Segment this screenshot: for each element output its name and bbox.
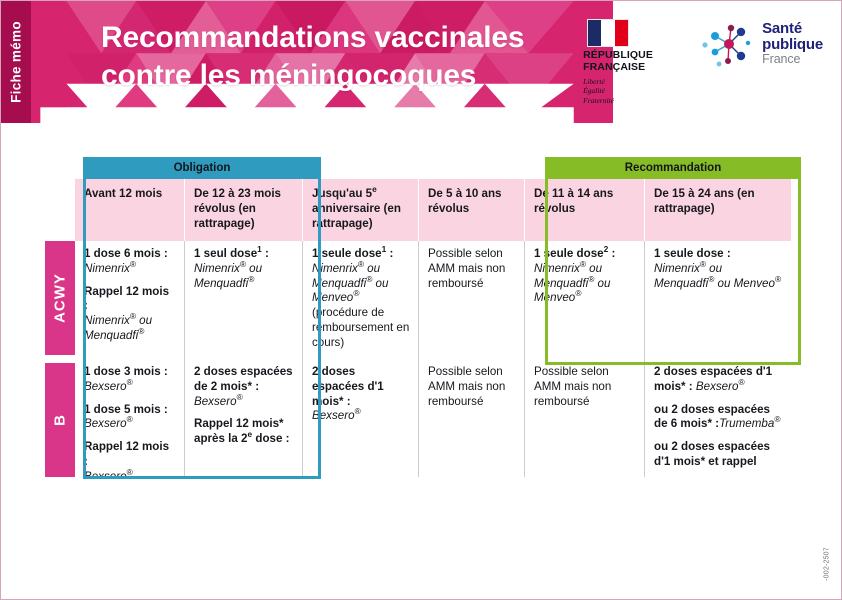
- product-name: Bexsero®: [312, 409, 361, 422]
- page-title: Recommandations vaccinales contre les mé…: [101, 19, 524, 96]
- column-header-12-23-mois: De 12 à 23 mois révolus (en rattrapage): [185, 179, 303, 241]
- dose-label: Rappel 12 mois :: [84, 285, 169, 313]
- product-name: Nimenrix®: [84, 262, 136, 275]
- cell-acwy-5e-anniversaire: 1 seule dose1 :Nimenrix® ou Menquadfi® o…: [303, 241, 419, 359]
- cell-note: (procédure de remboursement en cours): [312, 306, 409, 349]
- product-name: Trumemba®: [719, 417, 780, 430]
- spf-line3: France: [762, 53, 823, 67]
- reference-code: -002-2507: [819, 529, 835, 599]
- spf-line1: Santé: [762, 21, 823, 37]
- dose-label: 1 seule dose1 :: [312, 247, 393, 260]
- product-name: Nimenrix® ou Menquadfi®: [194, 262, 262, 290]
- rf-motto3: Fraternité: [583, 96, 675, 106]
- cell-acwy-11-14-ans: 1 seule dose2 :Nimenrix® ou Menquadfi® o…: [525, 241, 645, 359]
- product-name: Nimenrix® ou Menquadfi® ou Menveo®: [534, 262, 610, 305]
- cell-b-12-23-mois: 2 doses espacées de 2 mois* :Bexsero® Ra…: [185, 359, 303, 477]
- table-row-b: B 1 dose 3 mois :Bexsero® 1 dose 5 mois …: [45, 359, 801, 477]
- column-header-11-14-ans: De 11 à 14 ans révolus: [525, 179, 645, 241]
- french-flag-icon: [587, 19, 629, 47]
- document-page: Fiche mémo Recommandations vaccinales co…: [0, 0, 842, 600]
- dose-label: 2 doses espacées de 2 mois* :: [194, 365, 293, 393]
- product-name: Nimenrix® ou Menquadfi® ou Menveo®: [654, 262, 781, 290]
- cell-acwy-15-24-ans: 1 seule dose :Nimenrix® ou Menquadfi® ou…: [645, 241, 791, 359]
- republique-francaise-motto: Liberté Égalité Fraternité: [583, 77, 675, 106]
- republique-francaise-name: RÉPUBLIQUE FRANÇAISE: [583, 50, 675, 74]
- column-header-5e-anniversaire: Jusqu'au 5e anniversaire (en rattrapage): [303, 179, 419, 241]
- column-header-15-24-ans: De 15 à 24 ans (en rattrapage): [645, 179, 791, 241]
- table-row-acwy: ACWY 1 dose 6 mois :Nimenrix® Rappel 12 …: [45, 241, 801, 359]
- row-label-b: B: [45, 359, 75, 477]
- cell-acwy-avant-12-mois: 1 dose 6 mois :Nimenrix® Rappel 12 mois …: [75, 241, 185, 359]
- rf-motto1: Liberté: [583, 77, 675, 87]
- dose-label: 1 seul dose1 :: [194, 247, 269, 260]
- product-name: Bexsero®: [194, 395, 243, 408]
- rf-motto2: Égalité: [583, 86, 675, 96]
- spf-line2: publique: [762, 37, 823, 53]
- product-name: Bexsero®: [84, 417, 133, 430]
- dose-label: 1 seule dose :: [654, 247, 731, 260]
- cell-acwy-12-23-mois: 1 seul dose1 :Nimenrix® ou Menquadfi®: [185, 241, 303, 359]
- product-name: Nimenrix® ou Menquadfi®: [84, 314, 152, 342]
- row-label-acwy-text: ACWY: [52, 273, 69, 323]
- row-label-acwy: ACWY: [45, 241, 75, 359]
- cell-b-avant-12-mois: 1 dose 3 mois :Bexsero® 1 dose 5 mois :B…: [75, 359, 185, 477]
- vaccination-schedule-table: Obligation Recommandation Avant 12 mois …: [45, 157, 801, 479]
- cell-text: Possible selon AMM mais non remboursé: [428, 247, 505, 290]
- dose-label: Rappel 12 mois* après la 2e dose :: [194, 417, 290, 445]
- sante-publique-france-logo: Santé publique France: [701, 19, 823, 69]
- cell-b-15-24-ans: 2 doses espacées d'1 mois* : Bexsero® ou…: [645, 359, 791, 477]
- product-name: Bexsero®: [696, 380, 745, 393]
- banner-obligation: Obligation: [83, 157, 321, 179]
- table-grid: Avant 12 mois De 12 à 23 mois révolus (e…: [45, 179, 801, 477]
- product-name: Bexsero®: [84, 470, 133, 479]
- dose-label: 1 dose 6 mois :: [84, 247, 168, 260]
- fiche-memo-tab: Fiche mémo: [1, 1, 31, 123]
- row-label-b-text: B: [52, 414, 69, 426]
- product-name: Nimenrix® ou Menquadfi® ou Menveo®: [312, 262, 388, 305]
- product-name: Bexsero®: [84, 380, 133, 393]
- cell-b-5e-anniversaire: 2 doses espacées d'1 mois* :Bexsero®: [303, 359, 419, 477]
- banner-recommandation: Recommandation: [545, 157, 801, 179]
- dose-label: Rappel 12 mois :: [84, 440, 169, 468]
- cell-text: Possible selon AMM mais non remboursé: [428, 365, 505, 408]
- cell-b-5-10-ans: Possible selon AMM mais non remboursé: [419, 359, 525, 477]
- dose-label: 2 doses espacées d'1 mois* :: [312, 365, 384, 408]
- rf-line1: RÉPUBLIQUE: [583, 50, 675, 62]
- table-header-row: Avant 12 mois De 12 à 23 mois révolus (e…: [45, 179, 801, 241]
- rf-line2: FRANÇAISE: [583, 62, 675, 74]
- column-header-5-10-ans: De 5 à 10 ans révolus: [419, 179, 525, 241]
- reference-code-text: -002-2507: [824, 547, 831, 581]
- cell-text: Possible selon AMM mais non remboursé: [534, 365, 611, 408]
- cell-b-11-14-ans: Possible selon AMM mais non remboursé: [525, 359, 645, 477]
- page-title-line1: Recommandations vaccinales: [101, 21, 524, 54]
- table-banner-row: Obligation Recommandation: [45, 157, 801, 179]
- sante-publique-france-name: Santé publique France: [762, 21, 823, 67]
- spf-dots-icon: [701, 19, 755, 69]
- page-header: Fiche mémo Recommandations vaccinales co…: [1, 1, 613, 141]
- dose-label: ou 2 doses espacées d'1 mois* et rappel: [654, 440, 770, 468]
- page-title-line2: contre les méningocoques: [101, 57, 524, 95]
- dose-label: 1 seule dose2 :: [534, 247, 615, 260]
- cell-acwy-5-10-ans: Possible selon AMM mais non remboursé: [419, 241, 525, 359]
- logo-group: RÉPUBLIQUE FRANÇAISE Liberté Égalité Fra…: [583, 19, 823, 106]
- row-label-spacer: [45, 179, 75, 241]
- republique-francaise-logo: RÉPUBLIQUE FRANÇAISE Liberté Égalité Fra…: [583, 19, 675, 106]
- fiche-memo-tab-label: Fiche mémo: [9, 21, 24, 103]
- column-header-avant-12-mois: Avant 12 mois: [75, 179, 185, 241]
